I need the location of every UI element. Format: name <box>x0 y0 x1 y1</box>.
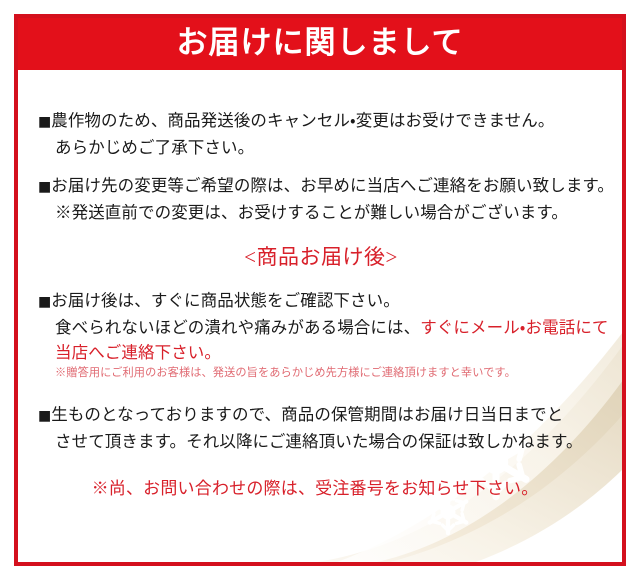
notice-line-text: 生ものとなっておりますので、商品の保管期間はお届け日当日までと <box>51 405 563 424</box>
notice-header: お届けに関しまして <box>14 14 626 70</box>
notice-line-text: させて頂きます。それ以降にご連絡頂いた場合の保証は致しかねます。 <box>55 432 583 451</box>
square-bullet-icon: ■ <box>38 294 51 310</box>
notice-line: させて頂きます。それ以降にご連絡頂いた場合の保証は致しかねます。 <box>38 429 604 454</box>
notice-line-text: お届け後は、すぐに商品状態をご確認下さい。 <box>51 291 400 310</box>
notice-line: ■お届け後は、すぐに商品状態をご確認下さい。 <box>38 288 604 315</box>
notice-item-inspect-on-arrival: ■お届け後は、すぐに商品状態をご確認下さい。 食べられないほどの潰れや痛みがある… <box>38 288 604 382</box>
notice-line-emphasis: すぐにメール・お電話にて <box>420 318 608 337</box>
notice-item-perishable-storage: ■生ものとなっておりますので、商品の保管期間はお届け日当日までと させて頂きます… <box>38 402 604 454</box>
notice-line-text: お届け先の変更等ご希望の際は、お早めに当店へご連絡をお願い致します。 <box>51 176 614 195</box>
square-bullet-icon: ■ <box>38 114 51 130</box>
notice-line: ■お届け先の変更等ご希望の際は、お早めに当店へご連絡をお願い致します。 <box>38 173 604 200</box>
notice-item-cancellation: ■農作物のため、商品発送後のキャンセル・変更はお受けできません。 あらかじめご了… <box>38 108 604 160</box>
notice-line-emphasis: 当店へご連絡下さい。 <box>55 343 221 362</box>
notice-line-text: 農作物のため、商品発送後のキャンセル・変更はお受けできません。 <box>51 111 554 130</box>
square-bullet-icon: ■ <box>38 179 51 195</box>
notice-frame: お届けに関しまして <box>14 14 626 566</box>
notice-line-text: 食べられないほどの潰れや痛みがある場合には、 <box>55 318 420 337</box>
notice-line-text: ※発送直前での変更は、お受けすることが難しい場合がございます。 <box>55 203 568 222</box>
notice-line: ■農作物のため、商品発送後のキャンセル・変更はお受けできません。 <box>38 108 604 135</box>
notice-line: あらかじめご了承下さい。 <box>38 135 604 160</box>
notice-line-text: あらかじめご了承下さい。 <box>55 138 254 157</box>
notice-line: ※発送直前での変更は、お受けすることが難しい場合がございます。 <box>38 200 604 225</box>
notice-footnote-gift: ※贈答用にご利用のお客様は、発送の旨をあらかじめ先方様にご連絡頂けますと幸いです… <box>38 365 604 382</box>
notice-line: 当店へご連絡下さい。 <box>38 340 604 365</box>
square-bullet-icon: ■ <box>38 408 51 424</box>
page-title: お届けに関しまして <box>176 27 463 58</box>
closing-note-order-number: ※尚、お問い合わせの際は、受注番号をお知らせ下さい。 <box>38 476 604 502</box>
notice-line: ■生ものとなっておりますので、商品の保管期間はお届け日当日までと <box>38 402 604 429</box>
section-heading-after-delivery: <商品お届け後> <box>38 242 604 272</box>
notice-item-address-change: ■お届け先の変更等ご希望の際は、お早めに当店へご連絡をお願い致します。 ※発送直… <box>38 173 604 225</box>
notice-line: 食べられないほどの潰れや痛みがある場合には、すぐにメール・お電話にて <box>38 315 604 340</box>
notice-body: ■農作物のため、商品発送後のキャンセル・変更はお受けできません。 あらかじめご了… <box>18 70 622 566</box>
delivery-notice-banner: お届けに関しまして <box>0 0 640 588</box>
